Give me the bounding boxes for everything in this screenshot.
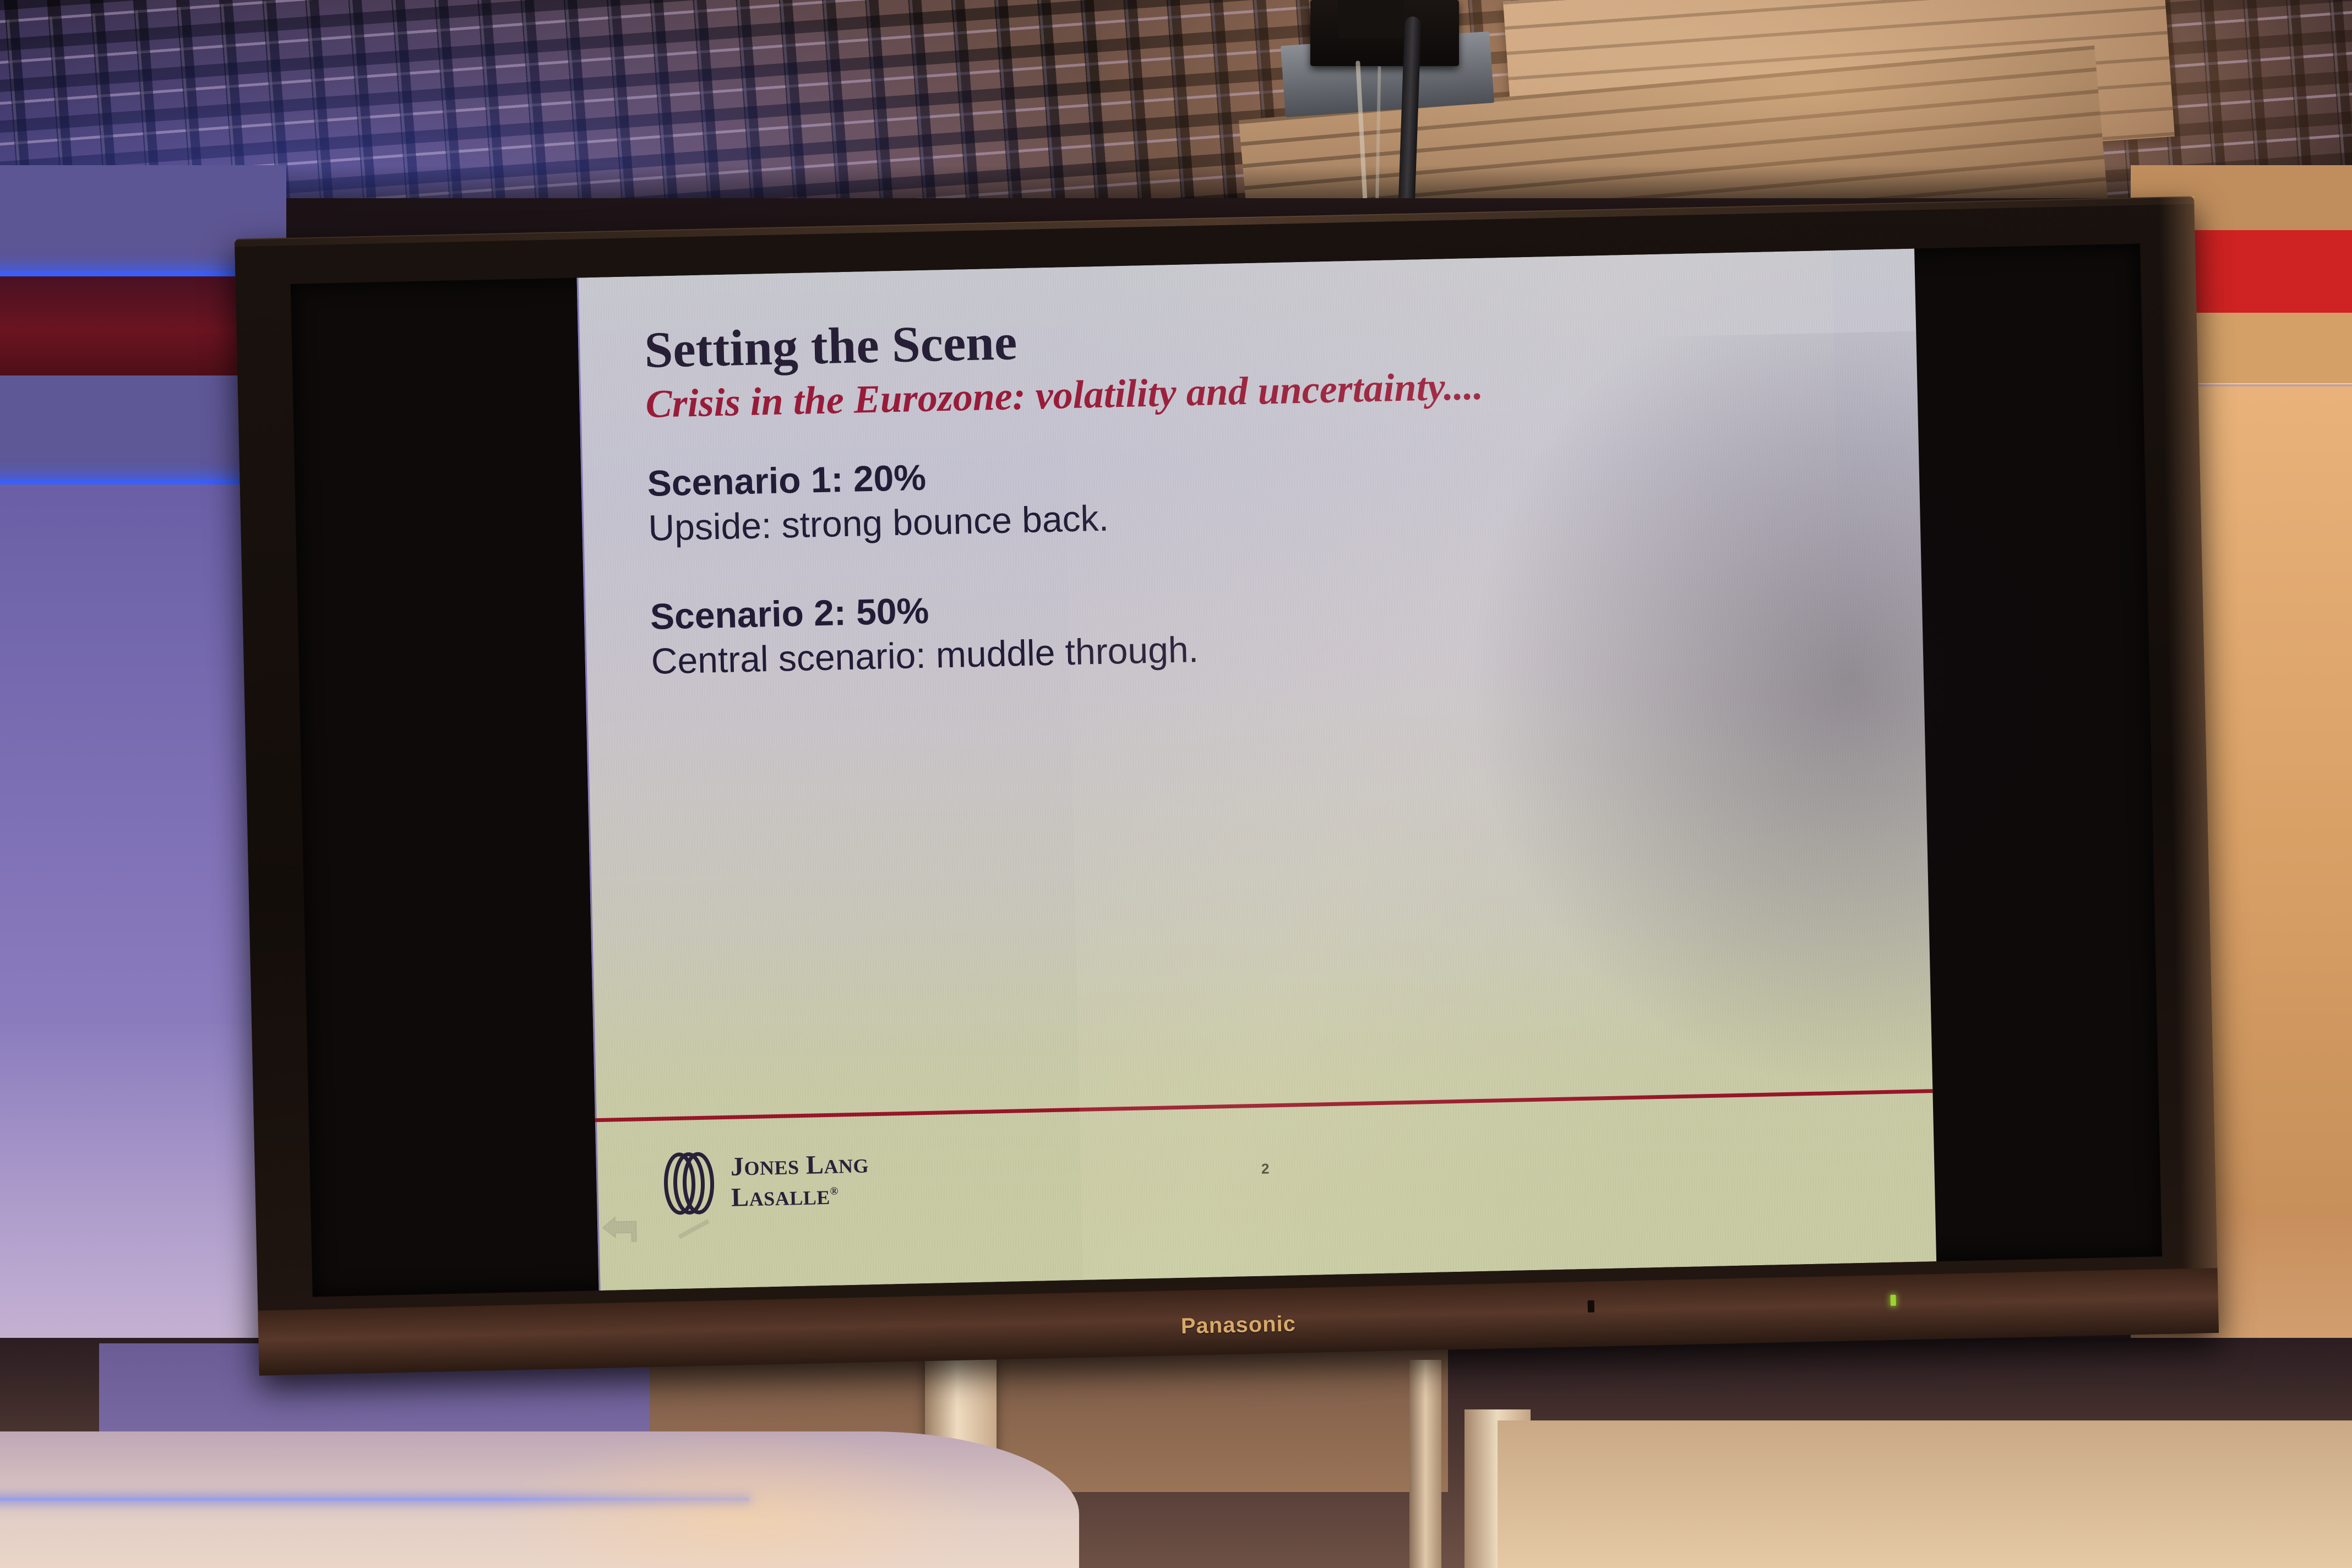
jll-ellipses-icon	[661, 1150, 717, 1216]
previous-slide-icon[interactable]	[601, 1216, 641, 1249]
slide-content: Setting the Scene Crisis in the Eurozone…	[577, 249, 1937, 1291]
stage-column-secondary	[1409, 1360, 1441, 1568]
scenario-block-2: Scenario 2: 50% Central scenario: muddle…	[650, 582, 1199, 683]
presentation-slide[interactable]: Setting the Scene Crisis in the Eurozone…	[577, 249, 1937, 1291]
slide-footer-rule	[595, 1089, 1933, 1122]
jll-wordmark: JONES LANG LASALLE®	[730, 1151, 869, 1211]
stage-warm-glow	[496, 1431, 991, 1568]
plasma-display[interactable]: Panasonic Setting the Scene Crisis in th…	[235, 196, 2219, 1375]
jll-line-2: LASALLE®	[731, 1182, 870, 1211]
jones-lang-lasalle-logo: JONES LANG LASALLE®	[661, 1147, 870, 1216]
display-screen: Setting the Scene Crisis in the Eurozone…	[291, 244, 2162, 1297]
conference-room-scene: Panasonic Setting the Scene Crisis in th…	[0, 0, 2352, 1568]
stage-front-wall-right	[1498, 1420, 2352, 1568]
ir-sensor-icon	[1588, 1300, 1594, 1313]
jll-line-1: JONES LANG	[730, 1151, 869, 1180]
scenario-block-1: Scenario 1: 20% Upside: strong bounce ba…	[647, 451, 1109, 550]
next-slide-icon[interactable]	[676, 1214, 716, 1247]
display-mount-clamp	[1338, 0, 1404, 39]
slide-navigation-controls[interactable]	[601, 1214, 716, 1249]
slide-title: Setting the Scene	[644, 317, 1017, 376]
ceiling	[0, 0, 2352, 231]
power-led-icon	[1890, 1295, 1896, 1306]
